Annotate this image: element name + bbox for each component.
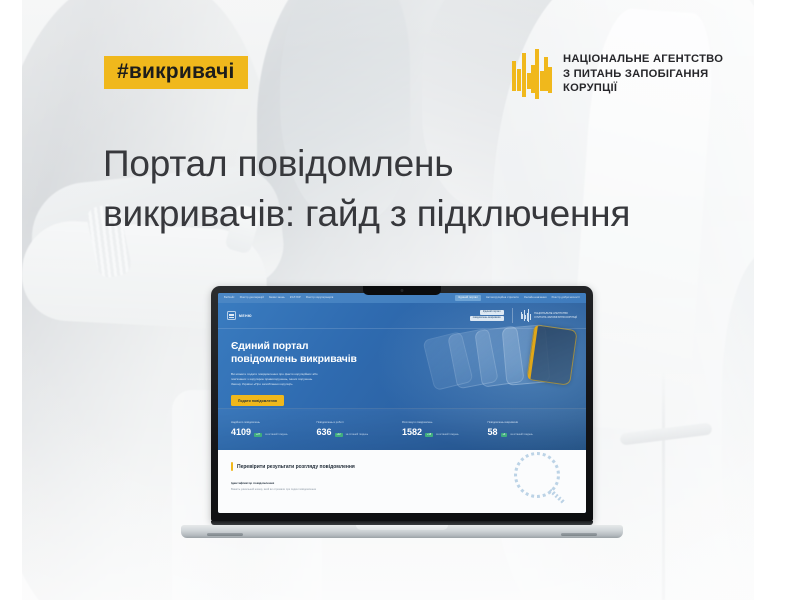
topbar-item[interactable]: ЄСЛ ЮР [290, 297, 301, 300]
laptop-base-notch [356, 525, 448, 530]
menu-label: МЕНЮ [239, 314, 252, 318]
laptop-base [181, 525, 623, 538]
logo-line-1: НАЦІОНАЛЬНЕ АГЕНТСТВО [563, 52, 723, 67]
magnifier-dotted-icon [514, 452, 572, 510]
laptop-screen: Вебсайт Реєстр декларацій Заяви знань ЄС… [218, 293, 586, 513]
nazk-logo: НАЦІОНАЛЬНЕ АГЕНТСТВО З ПИТАНЬ ЗАПОБІГАН… [510, 47, 723, 101]
logo-line-2: З ПИТАНЬ ЗАПОБІГАННЯ [563, 67, 723, 82]
hero-sub-line-3: Закону України «Про запобігання корупції… [231, 382, 371, 387]
stat-note: за останній тиждень [436, 433, 459, 436]
portal-stats: Надійшло повідомлень 4109 +27 за останні… [218, 408, 586, 450]
topbar-item[interactable]: Вебсайт [224, 297, 235, 300]
laptop-mockup: Вебсайт Реєстр декларацій Заяви знань ЄС… [181, 286, 623, 538]
stat-badge: +4 [501, 433, 508, 437]
topbar-item[interactable]: Реєстр доброчесності [552, 297, 580, 300]
laptop-lid: Вебсайт Реєстр декларацій Заяви знань ЄС… [211, 286, 593, 522]
hamburger-icon [227, 311, 236, 320]
topbar-item[interactable]: Антикорупційна стратегія [486, 297, 519, 300]
stat-block: Розглянуто повідомлень 1582 +18 за остан… [402, 422, 488, 437]
submit-report-button[interactable]: Подати повідомлення [231, 395, 284, 406]
stat-value: 4109 [231, 428, 251, 437]
topbar-item[interactable]: Реєстр корупціонерів [306, 297, 334, 300]
laptop-notch [363, 286, 441, 295]
stat-block: Повідомлень викривачів 58 +4 за останній… [488, 422, 574, 437]
stat-value: 1582 [402, 428, 422, 437]
accent-bar [231, 462, 233, 471]
portal-pill-1: Єдиний портал [480, 310, 504, 315]
webcam-icon [401, 289, 404, 292]
stat-label: Повідомлень в роботі [317, 422, 403, 425]
stat-value: 58 [488, 428, 498, 437]
nazk-bars-icon [510, 47, 552, 101]
nazk-logo-text: НАЦІОНАЛЬНЕ АГЕНТСТВО З ПИТАНЬ ЗАПОБІГАН… [563, 52, 723, 96]
stat-note: за останній тиждень [346, 433, 369, 436]
hero-subtitle: Ви можете подати повідомлення про факти … [231, 372, 371, 387]
hashtag-badge: #викривачі [104, 56, 248, 89]
envelope-card-fan-icon [428, 317, 576, 417]
stat-badge: +27 [254, 433, 262, 437]
stat-badge: +12 [335, 433, 343, 437]
right-margin [754, 0, 800, 600]
logo-line-3: КОРУПЦІЇ [563, 81, 723, 96]
laptop-foot-left [207, 533, 243, 536]
headline-line-2: викривачів: гайд з підключення [103, 189, 753, 239]
stat-badge: +18 [425, 433, 433, 437]
topbar-item[interactable]: Заяви знань [269, 297, 285, 300]
stat-note: за останній тиждень [265, 433, 288, 436]
stat-block: Повідомлень в роботі 636 +12 за останній… [317, 422, 403, 437]
topbar-item[interactable]: Онлайн-навчання [524, 297, 547, 300]
stat-value: 636 [317, 428, 332, 437]
stat-block: Надійшло повідомлень 4109 +27 за останні… [231, 422, 317, 437]
check-status-section: Перевірити результати розгляду повідомле… [218, 450, 586, 513]
headline-line-1: Портал повідомлень [103, 139, 753, 189]
laptop-foot-right [561, 533, 597, 536]
stat-note: за останній тиждень [510, 433, 533, 436]
left-margin [0, 0, 22, 600]
portal-hero: Вебсайт Реєстр декларацій Заяви знань ЄС… [218, 293, 586, 450]
check-status-title: Перевірити результати розгляду повідомле… [237, 464, 355, 470]
page-title: Портал повідомлень викривачів: гайд з пі… [103, 139, 753, 240]
topbar-item-active[interactable]: Єдиний портал [455, 295, 481, 301]
topbar-item[interactable]: Реєстр декларацій [240, 297, 264, 300]
stat-label: Розглянуто повідомлень [402, 422, 488, 425]
stat-label: Повідомлень викривачів [488, 422, 574, 425]
poster-canvas: #викривачі НАЦІОНАЛЬНЕ АГЕНТСТВО З ПИТАН… [0, 0, 800, 600]
menu-button[interactable]: МЕНЮ [227, 311, 252, 320]
stat-label: Надійшло повідомлень [231, 422, 317, 425]
